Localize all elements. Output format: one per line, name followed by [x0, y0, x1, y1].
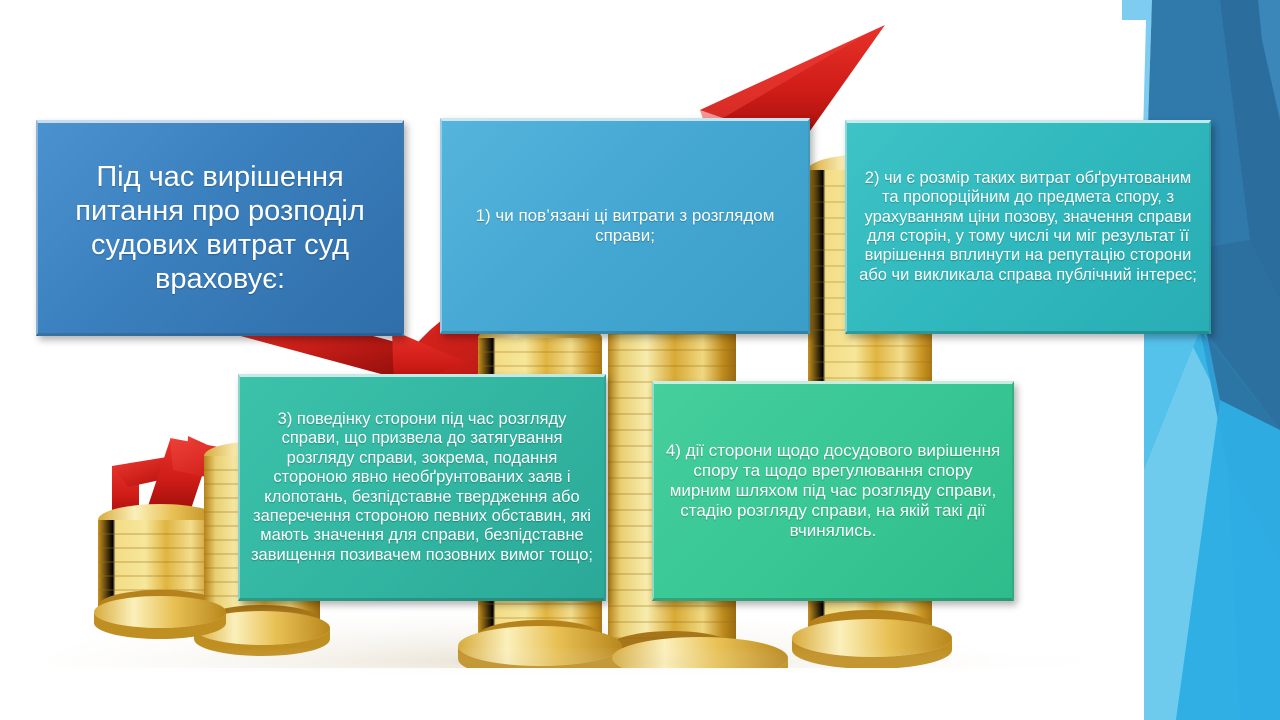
content-box-item-3-text: 3) поведінку сторони під час розгляду сп…: [250, 410, 594, 566]
slide-canvas: Під час вирішення питання про розподіл с…: [0, 0, 1280, 720]
content-box-item-2-text: 2) чи є розмір таких витрат обґрунтовани…: [857, 169, 1199, 286]
content-box-item-3[interactable]: 3) поведінку сторони під час розгляду сп…: [238, 374, 606, 601]
title-box[interactable]: Під час вирішення питання про розподіл с…: [36, 120, 404, 336]
content-box-item-4[interactable]: 4) дії сторони щодо досудового вирішення…: [652, 381, 1014, 601]
content-box-item-4-text: 4) дії сторони щодо досудового вирішення…: [664, 441, 1002, 541]
content-box-item-1[interactable]: 1) чи пов’язані ці витрати з розглядом с…: [440, 118, 810, 334]
coin-stack-far-left: [98, 504, 222, 622]
red-arrow-small-left: [112, 436, 236, 520]
coins-photo-background: [0, 0, 1130, 720]
coin-base-spread: [94, 596, 952, 692]
title-box-text: Під час вирішення питання про розподіл с…: [48, 160, 392, 297]
polygon-accent-art: [1100, 0, 1280, 720]
content-box-item-2[interactable]: 2) чи є розмір таких витрат обґрунтовани…: [845, 120, 1211, 334]
content-box-item-1-text: 1) чи пов’язані ці витрати з розглядом с…: [452, 206, 798, 246]
coins-and-arrows-illustration: [0, 0, 1130, 720]
decorative-polygons: [1100, 0, 1280, 720]
